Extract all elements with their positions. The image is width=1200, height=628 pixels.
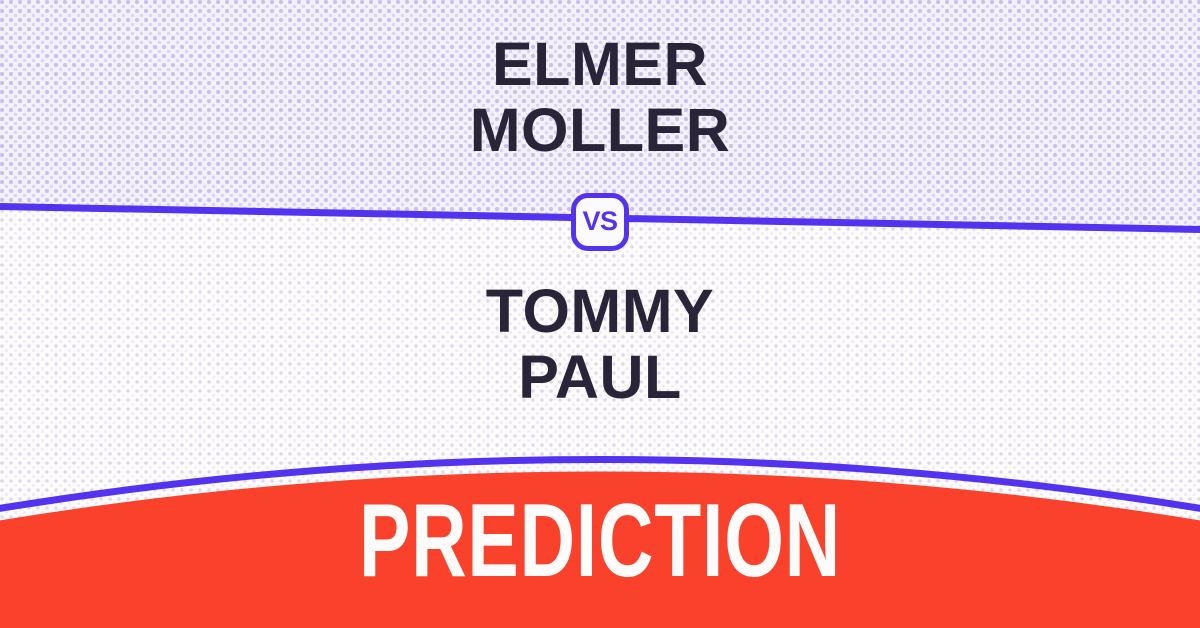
player-one-name-line-1: ELMER — [0, 31, 1200, 97]
player-one-name: ELMER MOLLER — [0, 31, 1200, 163]
player-two-name-line-1: TOMMY — [0, 278, 1200, 344]
player-two-name-line-2: PAUL — [0, 344, 1200, 410]
player-one-name-line-2: MOLLER — [0, 97, 1200, 163]
player-two-name: TOMMY PAUL — [0, 278, 1200, 410]
prediction-banner-label: PREDICTION — [156, 489, 1044, 593]
versus-badge-label: VS — [582, 208, 617, 235]
versus-badge: VS — [571, 193, 629, 251]
prediction-graphic: ELMER MOLLER VS TOMMY PAUL PREDICTION — [0, 0, 1200, 628]
